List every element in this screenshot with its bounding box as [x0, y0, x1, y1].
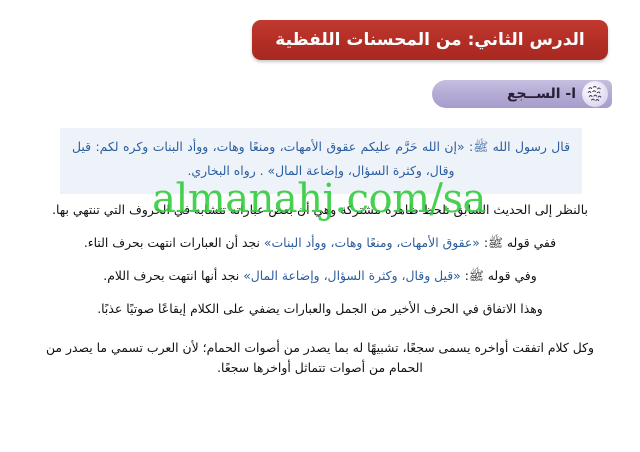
- paragraph-lam-suffix: نجد أنها انتهت بحرف اللام.: [103, 268, 243, 283]
- paragraph-observation: بالنظر إلى الحديث السابق نلحظ ظاهرة مشتر…: [46, 200, 594, 220]
- paragraph-taa: ففي قوله ﷺ: «عقوق الأمهات، ومنعًا وهات، …: [46, 233, 594, 253]
- lesson-title-text: الدرس الثاني: من المحسنات اللفظية: [275, 32, 584, 49]
- paragraph-lam: وفي قوله ﷺ: «قيل وقال، وكثرة السؤال، وإض…: [46, 266, 594, 286]
- document-page: الدرس الثاني: من المحسنات اللفظية: [0, 0, 640, 452]
- section-title-text: ا- الســجع: [507, 86, 576, 102]
- decorative-circle-ornament-icon: [582, 81, 608, 107]
- paragraph-lam-quote: «قيل وقال، وكثرة السؤال، وإضاعة المال»: [243, 268, 461, 283]
- paragraph-lam-prefix: وفي قوله ﷺ:: [461, 268, 537, 283]
- paragraph-rhythm: وهذا الاتفاق في الحرف الأخير من الجمل وا…: [46, 299, 594, 319]
- hadith-quote-text: قال رسول الله ﷺ: «إن الله حَرَّم عليكم ع…: [72, 135, 570, 183]
- paragraph-taa-quote: «عقوق الأمهات، ومنعًا وهات، ووأد البنات»: [264, 235, 480, 250]
- body-content: بالنظر إلى الحديث السابق نلحظ ظاهرة مشتر…: [46, 200, 594, 388]
- paragraph-definition: وكل كلام اتفقت أواخره يسمى سجعًا، تشبيهً…: [46, 338, 594, 378]
- paragraph-taa-suffix: نجد أن العبارات انتهت بحرف التاء.: [84, 235, 264, 250]
- section-title-banner: ا- الســجع: [432, 80, 612, 108]
- paragraph-taa-prefix: ففي قوله ﷺ:: [480, 235, 556, 250]
- lesson-title-banner: الدرس الثاني: من المحسنات اللفظية: [252, 20, 608, 60]
- hadith-quote-box: قال رسول الله ﷺ: «إن الله حَرَّم عليكم ع…: [60, 128, 582, 194]
- paragraph-spacer: [46, 328, 594, 338]
